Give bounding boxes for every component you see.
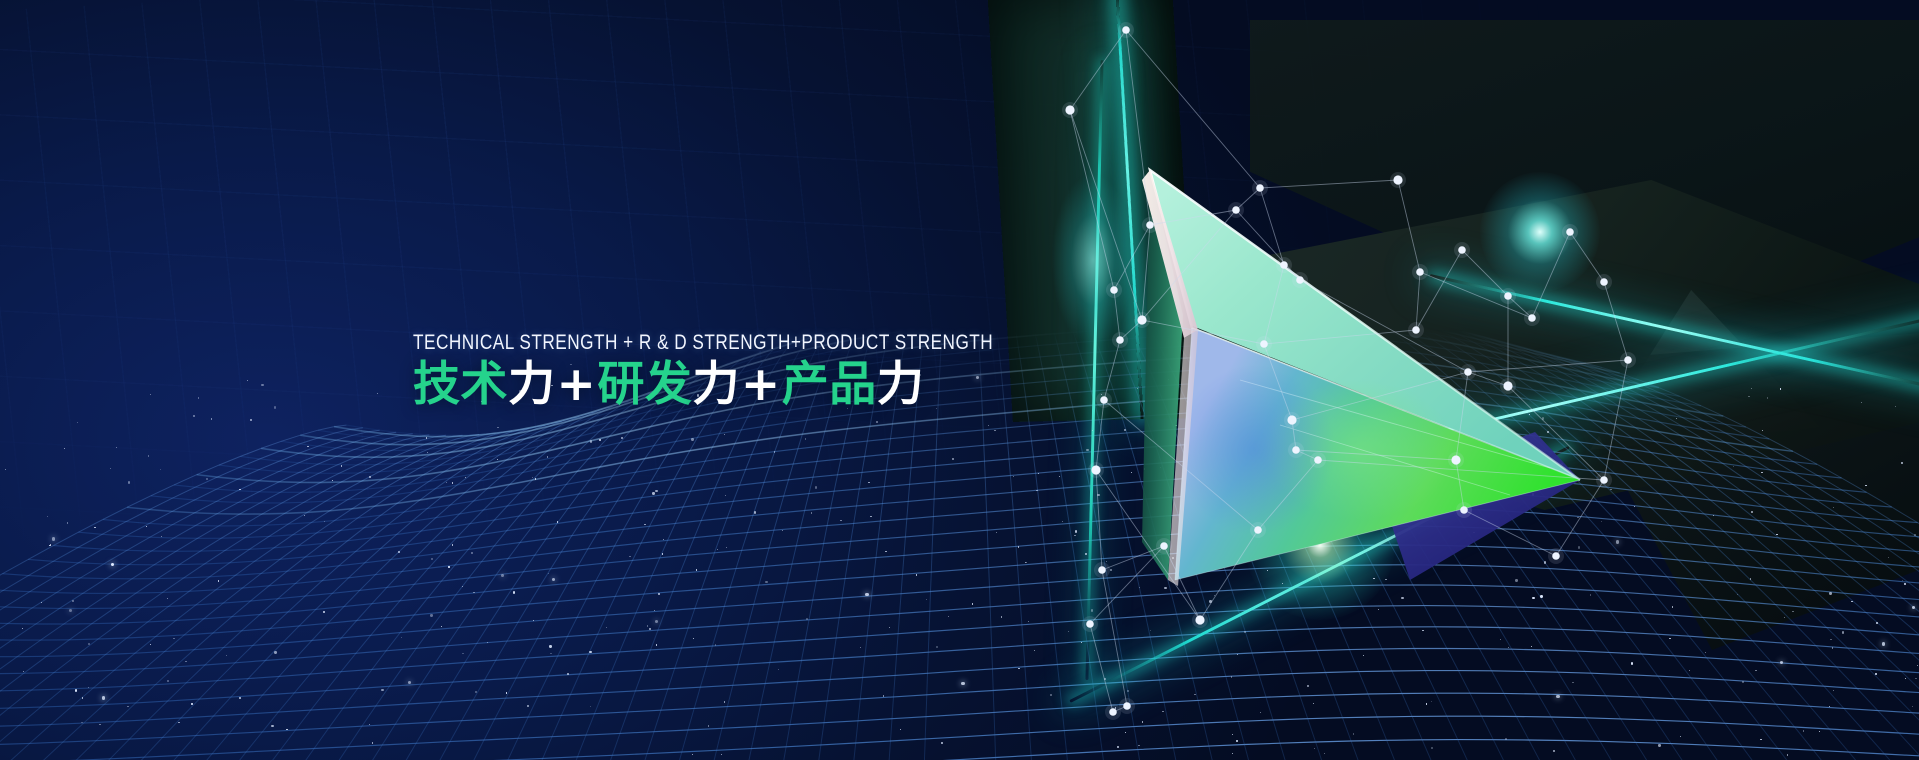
network-node — [1146, 221, 1154, 229]
banner-headline-chinese: 技术力+研发力+产品力 — [413, 357, 1053, 412]
network-line — [1150, 210, 1236, 225]
network-node — [1123, 702, 1131, 710]
network-node — [1109, 708, 1117, 716]
network-node — [1503, 381, 1512, 390]
network-node — [1260, 340, 1268, 348]
network-line — [1260, 188, 1284, 265]
network-line — [1096, 400, 1104, 470]
network-node — [1552, 552, 1560, 560]
network-line — [1258, 460, 1318, 530]
network-line — [1070, 110, 1142, 320]
network-node — [1110, 286, 1118, 294]
network-node — [1464, 368, 1472, 376]
network-line — [1604, 360, 1628, 480]
network-line — [1292, 372, 1468, 420]
network-line — [1260, 180, 1398, 188]
network-node — [1256, 184, 1264, 192]
network-line — [1464, 510, 1556, 556]
network-node — [1065, 105, 1074, 114]
network-node — [1254, 526, 1262, 534]
network-line — [1456, 372, 1468, 460]
network-node — [1098, 566, 1106, 574]
network-line — [1102, 546, 1164, 570]
network-node — [1292, 446, 1300, 454]
network-node — [1314, 456, 1322, 464]
headline-part-1: 力 — [508, 357, 556, 412]
network-line — [1462, 250, 1508, 296]
network-node — [1451, 455, 1460, 464]
network-line — [1142, 225, 1150, 320]
network-node — [1416, 268, 1424, 276]
network-line — [1604, 282, 1628, 360]
hero-text-block: TECHNICAL STRENGTH + R & D STRENGTH+PROD… — [413, 330, 1053, 412]
network-node — [1137, 315, 1146, 324]
banner-eyebrow-english: TECHNICAL STRENGTH + R & D STRENGTH+PROD… — [413, 330, 925, 355]
network-line — [1416, 272, 1420, 330]
network-node — [1086, 620, 1094, 628]
network-node — [1600, 476, 1608, 484]
headline-part-0: 技术 — [413, 357, 508, 412]
network-line — [1508, 386, 1604, 480]
network-node — [1393, 175, 1402, 184]
network-line — [1200, 530, 1258, 620]
network-line — [1104, 340, 1120, 400]
network-node — [1504, 292, 1512, 300]
network-line — [1300, 280, 1468, 372]
network-node — [1195, 615, 1204, 624]
network-line — [1126, 30, 1150, 225]
network-node — [1600, 278, 1608, 286]
network-node — [1412, 326, 1420, 334]
network-line — [1096, 470, 1200, 620]
network-line — [1264, 330, 1416, 344]
network-line — [1142, 320, 1264, 344]
headline-part-7: 力 — [877, 357, 925, 412]
network-line — [1468, 360, 1628, 372]
network-line — [1264, 344, 1292, 420]
network-node — [1458, 246, 1466, 254]
network-node — [1091, 465, 1100, 474]
network-line — [1416, 250, 1462, 330]
network-line — [1164, 546, 1200, 620]
network-line — [1398, 180, 1420, 272]
network-node — [1280, 261, 1288, 269]
network-line — [1264, 265, 1284, 344]
headline-part-2: + — [556, 357, 598, 412]
network-line — [1532, 232, 1570, 318]
network-line — [1090, 624, 1113, 712]
headline-part-3: 研发 — [597, 357, 692, 412]
network-line — [1070, 30, 1126, 110]
network-line — [1114, 225, 1150, 290]
network-node — [1116, 336, 1124, 344]
network-node — [1624, 356, 1632, 364]
network-line — [1096, 470, 1102, 570]
network-line — [1556, 480, 1604, 556]
network-node — [1100, 396, 1108, 404]
network-line — [1126, 30, 1260, 188]
hero-banner: TECHNICAL STRENGTH + R & D STRENGTH+PROD… — [0, 0, 1919, 760]
network-node — [1528, 314, 1536, 322]
network-node — [1287, 415, 1296, 424]
network-node — [1160, 542, 1168, 550]
network-node — [1296, 276, 1304, 284]
network-line — [1570, 232, 1604, 282]
headline-part-6: 产品 — [782, 357, 877, 412]
headline-part-5: + — [740, 357, 782, 412]
headline-part-4: 力 — [692, 357, 740, 412]
network-node — [1460, 506, 1468, 514]
network-line — [1070, 110, 1114, 290]
network-node — [1566, 228, 1574, 236]
network-line — [1104, 400, 1258, 530]
network-node — [1232, 206, 1240, 214]
network-node — [1122, 26, 1130, 34]
